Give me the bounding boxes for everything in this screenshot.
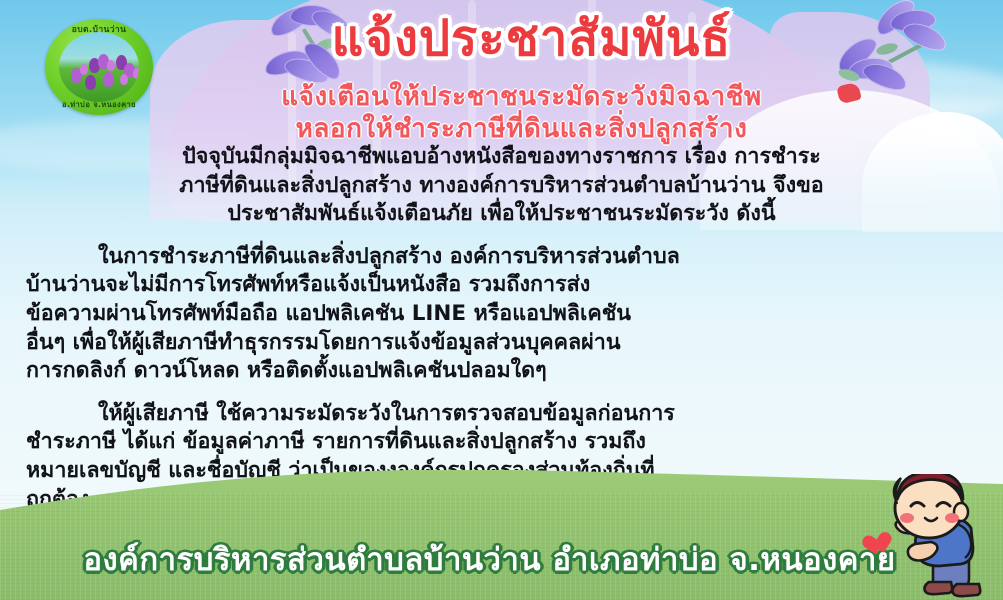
paragraph-2-line-5: การกดลิงก์ ดาวน์โหลด หรือติดตั้งแอปพลิเค… <box>26 357 977 386</box>
paragraph-2-line-3: ข้อความผ่านโทรศัพท์มือถือ แอปพลิเคชัน LI… <box>26 300 977 329</box>
page-title: แจ้งประชาสัมพันธ์ <box>0 14 1003 64</box>
paragraph-3-line-2: ชำระภาษี ได้แก่ ข้อมูลค่าภาษี รายการที่ด… <box>26 428 977 457</box>
page-subtitle-line-1: แจ้งเตือนให้ประชาชนระมัดระวังมิจฉาชีพ <box>40 82 1003 114</box>
paragraph-2-line-4: อื่นๆ เพื่อให้ผู้เสียภาษีทำธุรกรรมโดยการ… <box>26 329 977 358</box>
paragraph-2: ในการชำระภาษีที่ดินและสิ่งปลูกสร้าง องค์… <box>26 243 977 386</box>
announcement-body: ปัจจุบันมีกลุ่มมิจฉาชีพแอบอ้างหนังสือของ… <box>0 143 1003 518</box>
page-subtitle-line-2: หลอกให้ชำระภาษีที่ดินและสิ่งปลูกสร้าง <box>40 114 1003 146</box>
poster-canvas: อบต.บ้านว่าน อ.ท่าบ่อ จ.หนองคาย แจ้งประช… <box>0 0 1003 600</box>
paragraph-2-line-1: ในการชำระภาษีที่ดินและสิ่งปลูกสร้าง องค์… <box>26 243 977 272</box>
paragraph-2-line-2: บ้านว่านจะไม่มีการโทรศัพท์หรือแจ้งเป็นหน… <box>26 271 977 300</box>
paragraph-1-line-2: ภาษีที่ดินและสิ่งปลูกสร้าง ทางองค์การบริ… <box>26 172 977 201</box>
mascot-bowing-boy-icon <box>857 474 1003 600</box>
paragraph-1-line-3: ประชาสัมพันธ์แจ้งเตือนภัย เพื่อให้ประชาช… <box>26 200 977 229</box>
paragraph-1: ปัจจุบันมีกลุ่มมิจฉาชีพแอบอ้างหนังสือของ… <box>26 143 977 229</box>
page-subtitle: แจ้งเตือนให้ประชาชนระมัดระวังมิจฉาชีพ หล… <box>0 82 1003 145</box>
paragraph-3-line-1: ให้ผู้เสียภาษี ใช้ความระมัดระวังในการตรว… <box>26 400 977 429</box>
footer-organization-name: องค์การบริหารส่วนตำบลบ้านว่าน อำเภอท่าบ่… <box>0 534 1003 584</box>
paragraph-1-line-1: ปัจจุบันมีกลุ่มมิจฉาชีพแอบอ้างหนังสือของ… <box>26 143 977 172</box>
